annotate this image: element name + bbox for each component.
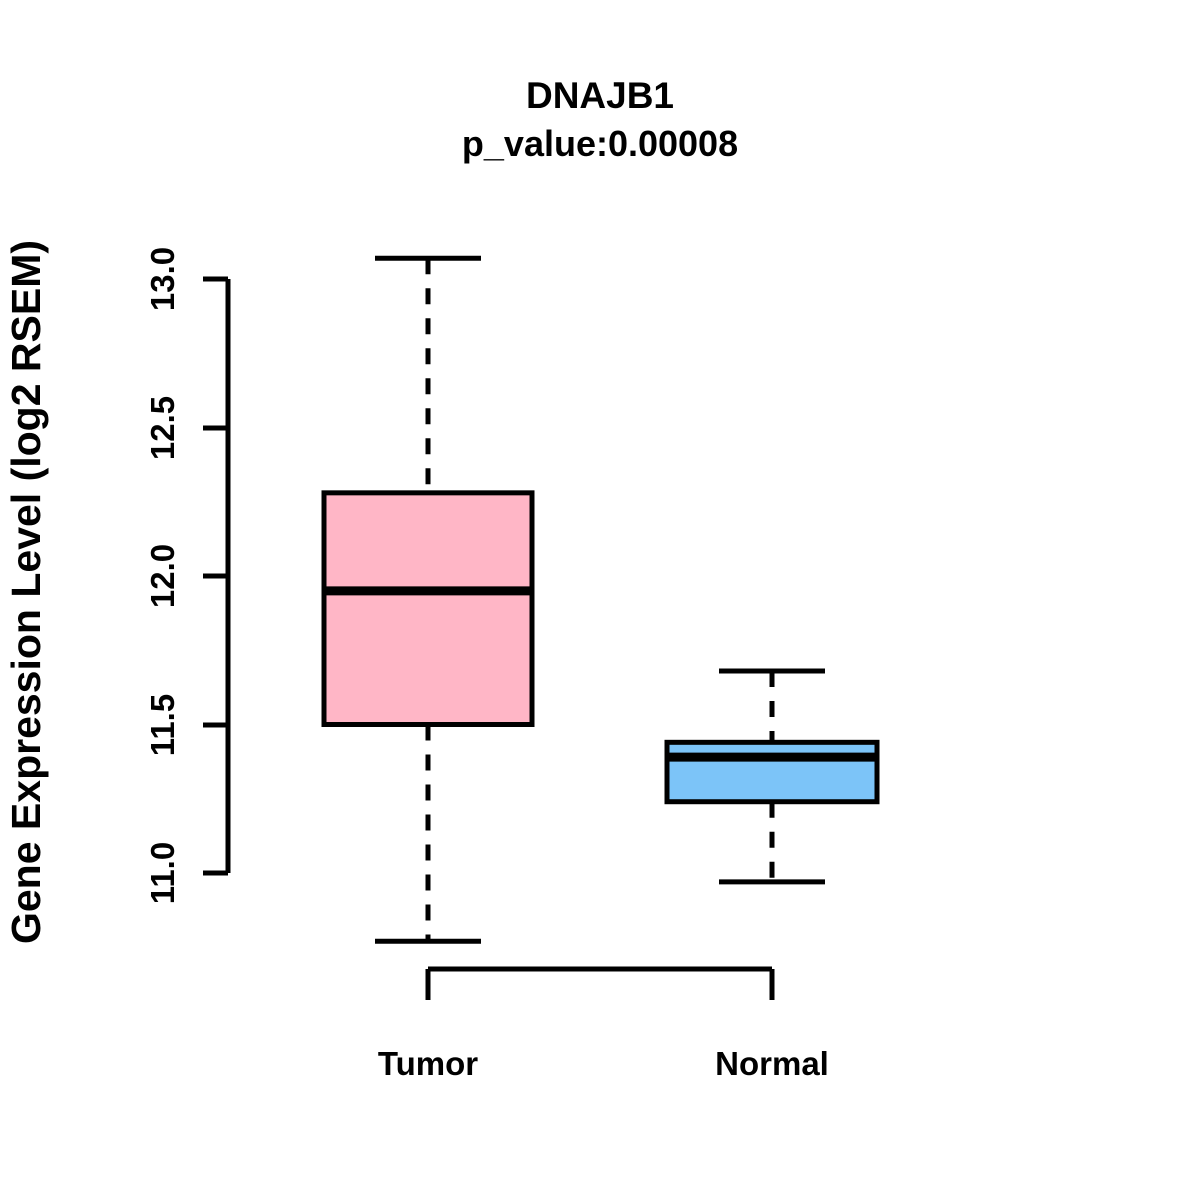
chart-subtitle: p_value:0.00008 (462, 123, 738, 164)
box-body-normal[interactable] (667, 742, 877, 801)
y-tick-label-11-5: 11.5 (144, 694, 181, 756)
plot-canvas: DNAJB1 p_value:0.00008 Gene Expression L… (0, 0, 1200, 1200)
y-tick-label-11-0: 11.0 (144, 842, 181, 904)
y-tick-label-12-5: 12.5 (144, 396, 181, 460)
boxplot-figure: DNAJB1 p_value:0.00008 Gene Expression L… (0, 0, 1200, 1200)
x-label-normal: Normal (715, 1045, 829, 1082)
x-label-tumor: Tumor (378, 1045, 478, 1082)
box-body-tumor[interactable] (324, 493, 532, 725)
y-tick-label-13-0: 13.0 (144, 247, 181, 311)
y-tick-label-12-0: 12.0 (144, 544, 181, 608)
y-axis-title: Gene Expression Level (log2 RSEM) (3, 240, 49, 944)
chart-title: DNAJB1 (526, 75, 674, 116)
